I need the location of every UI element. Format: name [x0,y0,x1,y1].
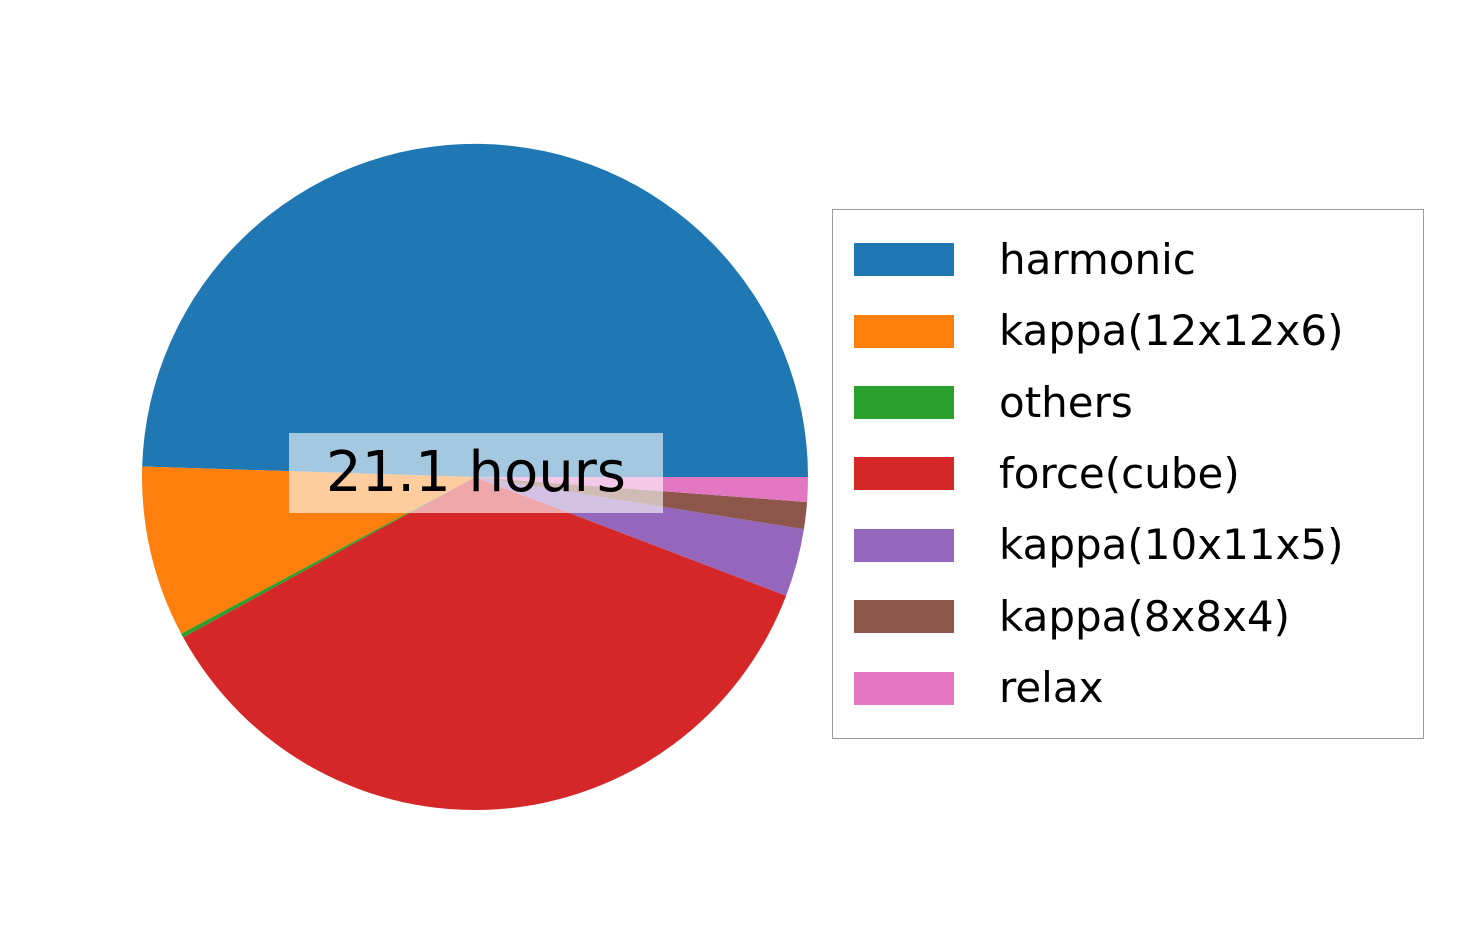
legend-entry[interactable]: kappa(8x8x4) [833,588,1423,646]
legend-entry-label: kappa(12x12x6) [999,310,1343,352]
legend-entry[interactable]: kappa(10x11x5) [833,516,1423,574]
legend-entry[interactable]: force(cube) [833,445,1423,503]
legend-entries-list: harmonickappa(12x12x6)othersforce(cube)k… [833,210,1423,738]
legend-entry-label: others [999,382,1133,424]
legend-entry-label: kappa(10x11x5) [999,524,1343,566]
legend-entry-label: relax [999,667,1103,709]
pie-slice[interactable] [142,144,808,477]
pie-chart-area: 21.1 hours [0,0,950,951]
legend-color-swatch [854,600,954,633]
legend-color-swatch [854,386,954,419]
legend-box: harmonickappa(12x12x6)othersforce(cube)k… [832,209,1424,739]
legend-color-swatch [854,457,954,490]
figure-canvas: 21.1 hours harmonickappa(12x12x6)othersf… [0,0,1483,951]
legend-color-swatch [854,243,954,276]
legend-entry-label: force(cube) [999,453,1240,495]
legend-entry[interactable]: others [833,374,1423,432]
legend-color-swatch [854,529,954,562]
legend-entry-label: kappa(8x8x4) [999,596,1290,638]
legend-entry-label: harmonic [999,239,1196,281]
legend-entry[interactable]: relax [833,659,1423,717]
legend-entry[interactable]: harmonic [833,231,1423,289]
legend-color-swatch [854,672,954,705]
center-total-label: 21.1 hours [289,433,663,513]
legend-color-swatch [854,315,954,348]
legend-entry[interactable]: kappa(12x12x6) [833,302,1423,360]
